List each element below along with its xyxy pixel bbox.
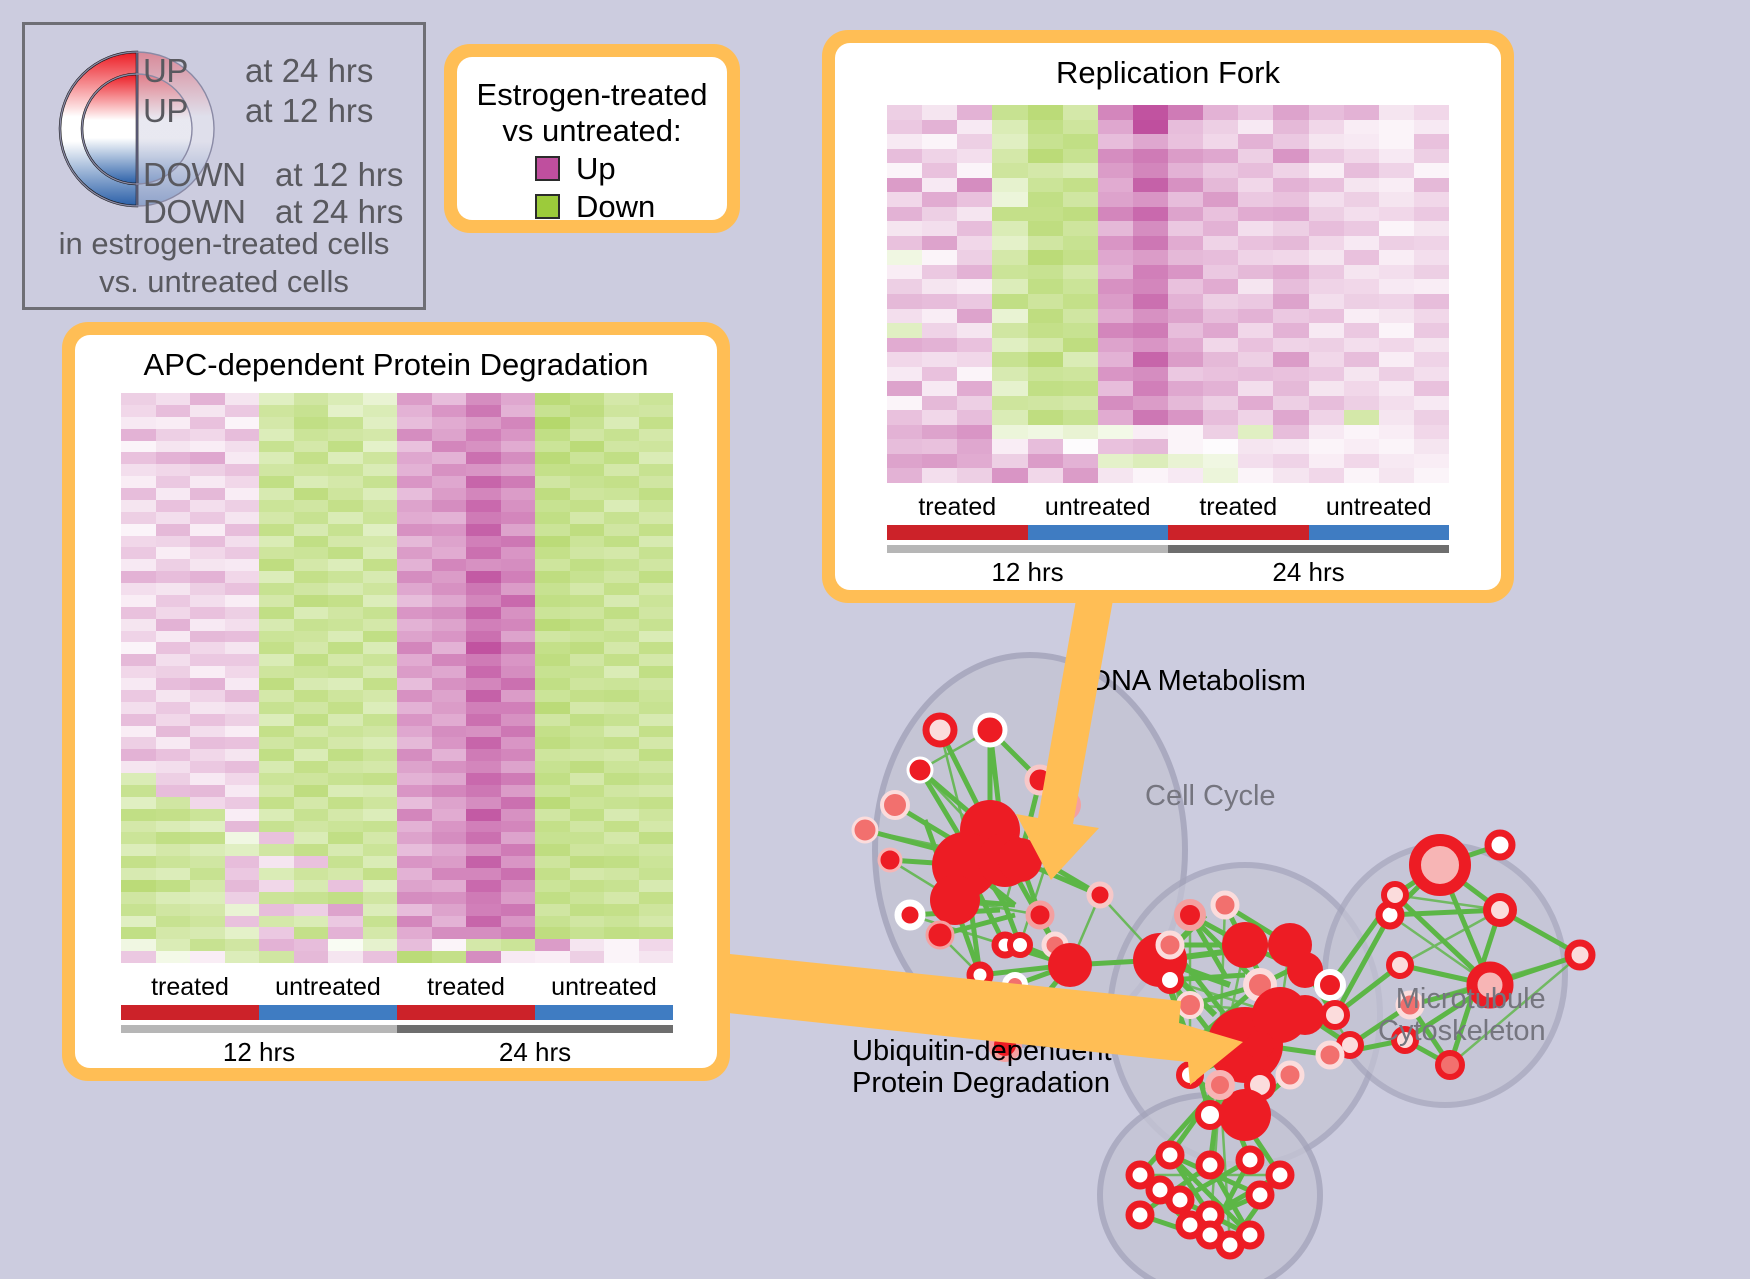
heatmap-cell [535, 559, 570, 571]
heatmap-cell [957, 178, 992, 193]
heatmap-cell [225, 714, 260, 726]
heatmap-cell [363, 583, 398, 595]
heatmap-cell [466, 939, 501, 951]
heatmap-cell [1063, 439, 1098, 454]
heatmap-cell [190, 559, 225, 571]
heatmap-cell [922, 279, 957, 294]
heatmap-cell [604, 547, 639, 559]
heatmap-cell [294, 607, 329, 619]
heatmap-cell [1379, 396, 1414, 411]
heatmap-cell [639, 916, 674, 928]
heatmap-cell [397, 429, 432, 441]
heatmap-cell [922, 323, 957, 338]
heatmap-cell [1309, 134, 1344, 149]
heatmap-cell [1414, 221, 1449, 236]
heatmap-cell [432, 654, 467, 666]
heatmap-cell [121, 939, 156, 951]
heatmap-cell [156, 749, 191, 761]
heatmap-cell [225, 441, 260, 453]
heatmap-cell [259, 571, 294, 583]
heatmap-cell [466, 595, 501, 607]
heatmap-cell [363, 429, 398, 441]
heatmap-cell [121, 749, 156, 761]
heatmap-cell [992, 105, 1027, 120]
heatmap-cell [570, 880, 605, 892]
heatmap-cell [1203, 323, 1238, 338]
heatmap-cell [639, 690, 674, 702]
heatmap-cell [604, 429, 639, 441]
heatmap-cell [1344, 309, 1379, 324]
heatmap-cell [570, 441, 605, 453]
heatmap-cell [1238, 207, 1273, 222]
heatmap-cell [922, 338, 957, 353]
heatmap-cell [1203, 294, 1238, 309]
heatmap-cell [328, 654, 363, 666]
heatmap-cell [1098, 410, 1133, 425]
heatmap-cell [432, 619, 467, 631]
heatmap-cell [432, 488, 467, 500]
wheel-row-2-time: at 12 hrs [275, 156, 403, 194]
group-label: untreated [1028, 493, 1169, 522]
heatmap-cell [225, 939, 260, 951]
heatmap-cell [1414, 250, 1449, 265]
group-label: untreated [1309, 493, 1450, 522]
heatmap-cell [225, 417, 260, 429]
heatmap-cell [1133, 367, 1168, 382]
heatmap-cell [225, 726, 260, 738]
heatmap-cell [1098, 425, 1133, 440]
heatmap-cell [328, 583, 363, 595]
heatmap-cell [639, 761, 674, 773]
heatmap-cell [1273, 221, 1308, 236]
heatmap-cell [1063, 134, 1098, 149]
heatmap-cell [992, 279, 1027, 294]
heatmap-cell [397, 809, 432, 821]
heatmap-cell [1133, 338, 1168, 353]
heatmap-cell [639, 607, 674, 619]
heatmap-cell [397, 951, 432, 963]
heatmap-cell [604, 797, 639, 809]
heatmap-cell [604, 856, 639, 868]
heatmap-cell [1379, 454, 1414, 469]
heatmap-cell [1379, 338, 1414, 353]
heatmap-cell [1028, 192, 1063, 207]
heatmap-cell [328, 785, 363, 797]
time-label: 12 hrs [121, 1037, 397, 1068]
group-bar [535, 1005, 673, 1020]
heatmap-cell [1063, 468, 1098, 483]
heatmap-cell [432, 429, 467, 441]
heatmap-cell [1168, 279, 1203, 294]
heatmap-cell [639, 559, 674, 571]
heatmap-cell [1344, 134, 1379, 149]
heatmap-cell [604, 809, 639, 821]
heatmap-cell [1203, 105, 1238, 120]
heatmap-cell [259, 678, 294, 690]
heatmap-cell [328, 927, 363, 939]
heatmap-cell [887, 120, 922, 135]
heatmap-cell [1028, 163, 1063, 178]
heatmap-cell [294, 429, 329, 441]
heatmap-cell [922, 207, 957, 222]
heatmap-cell [225, 595, 260, 607]
heatmap-cell [535, 726, 570, 738]
heatmap-cell [604, 452, 639, 464]
heatmap-cell [1344, 105, 1379, 120]
heatmap-cell [1063, 236, 1098, 251]
heatmap-cell [570, 429, 605, 441]
heatmap-cell [992, 396, 1027, 411]
heatmap-cell [570, 666, 605, 678]
cluster-label-ubiquitin: Ubiquitin-dependent Protein Degradation [852, 1035, 1112, 1100]
heatmap-cell [1028, 338, 1063, 353]
heatmap-cell [1063, 425, 1098, 440]
heatmap-cell [1063, 120, 1098, 135]
wheel-legend-footer: in estrogen-treated cells vs. untreated … [25, 225, 423, 301]
heatmap-cell [501, 690, 536, 702]
heatmap-cell [156, 405, 191, 417]
heatmap-cell [604, 488, 639, 500]
heatmap-cell [190, 737, 225, 749]
heatmap-cell [992, 207, 1027, 222]
heatmap-cell [1379, 134, 1414, 149]
heatmap-cell [1379, 410, 1414, 425]
heatmap-cell [570, 500, 605, 512]
legend-item-up: Up [535, 153, 616, 184]
heatmap-cell [121, 654, 156, 666]
heatmap-cell [1414, 396, 1449, 411]
heatmap-cell [466, 393, 501, 405]
heatmap-cell [639, 951, 674, 963]
heatmap-cell [570, 832, 605, 844]
heatmap-cell [1379, 425, 1414, 440]
wheel-row-1-time: at 12 hrs [245, 92, 373, 130]
heatmap-cell [466, 726, 501, 738]
heatmap-cell [121, 631, 156, 643]
heatmap-cell [294, 571, 329, 583]
heatmap-cell [1273, 352, 1308, 367]
heatmap-cell [225, 785, 260, 797]
heatmap-cell [432, 785, 467, 797]
heatmap-cell [190, 405, 225, 417]
heatmap-cell [639, 476, 674, 488]
heatmap-cell [190, 809, 225, 821]
heatmap-cell [294, 393, 329, 405]
heatmap-cell [570, 488, 605, 500]
heatmap-cell [1133, 396, 1168, 411]
heatmap-cell [1238, 250, 1273, 265]
heatmap-cell [887, 367, 922, 382]
heatmap-cell [1063, 294, 1098, 309]
heatmap-cell [1203, 309, 1238, 324]
heatmap-cell [604, 939, 639, 951]
heatmap-cell [887, 294, 922, 309]
heatmap-cell [156, 441, 191, 453]
heatmap-cell [190, 904, 225, 916]
heatmap-cell [1273, 265, 1308, 280]
heatmap-cell [363, 785, 398, 797]
heatmap-cell [1063, 221, 1098, 236]
heatmap-cell [992, 352, 1027, 367]
heatmap-cell [1414, 352, 1449, 367]
heatmap-cell [397, 547, 432, 559]
heatmap-cell [259, 785, 294, 797]
heatmap-cell [501, 702, 536, 714]
heatmap-cell [604, 476, 639, 488]
heatmap-cell [121, 524, 156, 536]
heatmap-cell [922, 425, 957, 440]
heatmap-cell [1098, 294, 1133, 309]
cluster-label-ubiquitin-line1: Ubiquitin-dependent [852, 1035, 1112, 1067]
heatmap-cell [1238, 323, 1273, 338]
heatmap-cell [156, 524, 191, 536]
heatmap-cell [294, 405, 329, 417]
heatmap-cell [156, 761, 191, 773]
heatmap-cell [225, 583, 260, 595]
heatmap-cell [604, 583, 639, 595]
heatmap-cell [225, 393, 260, 405]
heatmap-cell [225, 500, 260, 512]
heatmap-cell [887, 352, 922, 367]
heatmap-cell [156, 809, 191, 821]
heatmap-cell [922, 149, 957, 164]
heatmap-cell [535, 464, 570, 476]
heatmap-cell [259, 951, 294, 963]
heatmap-cell [957, 265, 992, 280]
heatmap-cell [432, 927, 467, 939]
heatmap-cell [887, 439, 922, 454]
heatmap-cell [225, 702, 260, 714]
heatmap-cell [1098, 149, 1133, 164]
heatmap-cell [190, 417, 225, 429]
heatmap-cell [432, 512, 467, 524]
heatmap-cell [259, 536, 294, 548]
heatmap-cell [294, 654, 329, 666]
heatmap-cell [259, 939, 294, 951]
heatmap-cell [535, 880, 570, 892]
heatmap-cell [1344, 410, 1379, 425]
heatmap-cell [259, 595, 294, 607]
wheel-row-0-direction: UP [143, 52, 188, 90]
heatmap-cell [1168, 338, 1203, 353]
heatmap-cell [1133, 236, 1168, 251]
heatmap-cell [992, 134, 1027, 149]
heatmap-cell [1414, 236, 1449, 251]
heatmap-cell [501, 429, 536, 441]
cluster-label-cell-cycle: Cell Cycle [1145, 780, 1276, 812]
heatmap-cell [466, 476, 501, 488]
heatmap-cell [1379, 178, 1414, 193]
heatmap-cell [501, 642, 536, 654]
heatmap-cell [639, 678, 674, 690]
heatmap-cell [604, 821, 639, 833]
heatmap-cell [957, 207, 992, 222]
heatmap-cell [535, 749, 570, 761]
heatmap-cell [1379, 439, 1414, 454]
heatmap-cell [1063, 149, 1098, 164]
heatmap-cell [363, 595, 398, 607]
heatmap-cell [294, 488, 329, 500]
heatmap-cell [121, 512, 156, 524]
heatmap-cell [1168, 352, 1203, 367]
heatmap-cell [1273, 381, 1308, 396]
heatmap-cell [922, 309, 957, 324]
heatmap-cell [432, 571, 467, 583]
heatmap-cell [432, 464, 467, 476]
heatmap-cell [259, 500, 294, 512]
heatmap-cell [1203, 454, 1238, 469]
up-color-swatch [535, 156, 560, 181]
heatmap-cell [1168, 250, 1203, 265]
heatmap-cell [604, 441, 639, 453]
heatmap-cell [363, 951, 398, 963]
heatmap-cell [501, 939, 536, 951]
heatmap-cell [887, 178, 922, 193]
heatmap-cell [121, 595, 156, 607]
heatmap-cell [501, 559, 536, 571]
heatmap-cell [570, 536, 605, 548]
heatmap-cell [922, 236, 957, 251]
heatmap-cell [225, 916, 260, 928]
heatmap-cell [397, 690, 432, 702]
heatmap-cell [922, 134, 957, 149]
heatmap-cell [1344, 236, 1379, 251]
heatmap-cell [432, 678, 467, 690]
heatmap-cell [1098, 178, 1133, 193]
heatmap-cell [501, 821, 536, 833]
heatmap-cell [570, 571, 605, 583]
heatmap-cell [466, 441, 501, 453]
heatmap-cell [535, 951, 570, 963]
heatmap-cell [1309, 149, 1344, 164]
heatmap-cell [156, 631, 191, 643]
heatmap-cell [363, 607, 398, 619]
time-label: 12 hrs [887, 557, 1168, 588]
heatmap-cell [225, 868, 260, 880]
heatmap-cell [190, 726, 225, 738]
heatmap-cell [156, 571, 191, 583]
heatmap-cell [225, 797, 260, 809]
heatmap-cell [1344, 250, 1379, 265]
heatmap-cell [121, 393, 156, 405]
heatmap-cell [1063, 309, 1098, 324]
heatmap-cell [121, 417, 156, 429]
heatmap-cell [363, 761, 398, 773]
heatmap-cell [1238, 425, 1273, 440]
wheel-row-0-time: at 24 hrs [245, 52, 373, 90]
heatmap-cell [1414, 323, 1449, 338]
heatmap-cell [501, 880, 536, 892]
heatmap-cell [1028, 468, 1063, 483]
heatmap-cell [992, 192, 1027, 207]
heatmap-cell [639, 797, 674, 809]
heatmap-cell [1203, 279, 1238, 294]
heatmap-cell [466, 761, 501, 773]
heatmap-cell [1273, 192, 1308, 207]
heatmap-cell [604, 654, 639, 666]
heatmap-cell [397, 441, 432, 453]
heatmap-cell [466, 844, 501, 856]
heatmap-cell [190, 714, 225, 726]
heatmap-cell [466, 405, 501, 417]
heatmap-cell [570, 785, 605, 797]
heatmap-cell [535, 417, 570, 429]
heatmap-cell [363, 464, 398, 476]
heatmap-cell [992, 425, 1027, 440]
heatmap-cell [225, 405, 260, 417]
heatmap-cell [225, 536, 260, 548]
heatmap-cell [190, 844, 225, 856]
heatmap-cell [922, 221, 957, 236]
heatmap-cell [1203, 425, 1238, 440]
heatmap-cell [1344, 323, 1379, 338]
heatmap-cell [535, 702, 570, 714]
heatmap-cell [639, 417, 674, 429]
heatmap-cell [363, 726, 398, 738]
heatmap-cell [259, 832, 294, 844]
heatmap-cell [535, 927, 570, 939]
heatmap-cell [957, 105, 992, 120]
heatmap-cell [604, 417, 639, 429]
heatmap-cell [225, 452, 260, 464]
heatmap-cell [1028, 265, 1063, 280]
heatmap-cell [887, 134, 922, 149]
heatmap-cell [328, 429, 363, 441]
heatmap-cell [466, 880, 501, 892]
heatmap-cell [363, 749, 398, 761]
heatmap-cell [535, 452, 570, 464]
heatmap-cell [225, 512, 260, 524]
heatmap-cell [501, 547, 536, 559]
heatmap-cell [1238, 221, 1273, 236]
heatmap-cell [957, 279, 992, 294]
heatmap-cell [604, 749, 639, 761]
heatmap-cell [328, 642, 363, 654]
heatmap-cell [432, 405, 467, 417]
heatmap-cell [259, 821, 294, 833]
heatmap-cell [570, 631, 605, 643]
heatmap-cell [328, 607, 363, 619]
heatmap-cell [1273, 279, 1308, 294]
heatmap-cell [639, 880, 674, 892]
heatmap-cell [1238, 279, 1273, 294]
heatmap-cell [328, 832, 363, 844]
heatmap-cell [501, 405, 536, 417]
heatmap-cell [225, 642, 260, 654]
heatmap-cell [501, 726, 536, 738]
heatmap-cell [1344, 367, 1379, 382]
heatmap-cell [432, 452, 467, 464]
heatmap-cell [604, 393, 639, 405]
heatmap-cell [501, 452, 536, 464]
figure-canvas: UP at 24 hrs UP at 12 hrs DOWN at 12 hrs… [0, 0, 1750, 1279]
heatmap-cell [121, 714, 156, 726]
heatmap-cell [294, 547, 329, 559]
heatmap-cell [1133, 323, 1168, 338]
heatmap-cell [570, 844, 605, 856]
heatmap-cell [190, 393, 225, 405]
heatmap-cell [1238, 294, 1273, 309]
heatmap-cell [432, 726, 467, 738]
heatmap-cell [887, 236, 922, 251]
heatmap-cell [121, 690, 156, 702]
heatmap-cell [1063, 381, 1098, 396]
heatmap-cell [1133, 134, 1168, 149]
heatmap-cell [887, 338, 922, 353]
heatmap-cell [466, 429, 501, 441]
heatmap-cell [957, 468, 992, 483]
heatmap-cell [1098, 192, 1133, 207]
